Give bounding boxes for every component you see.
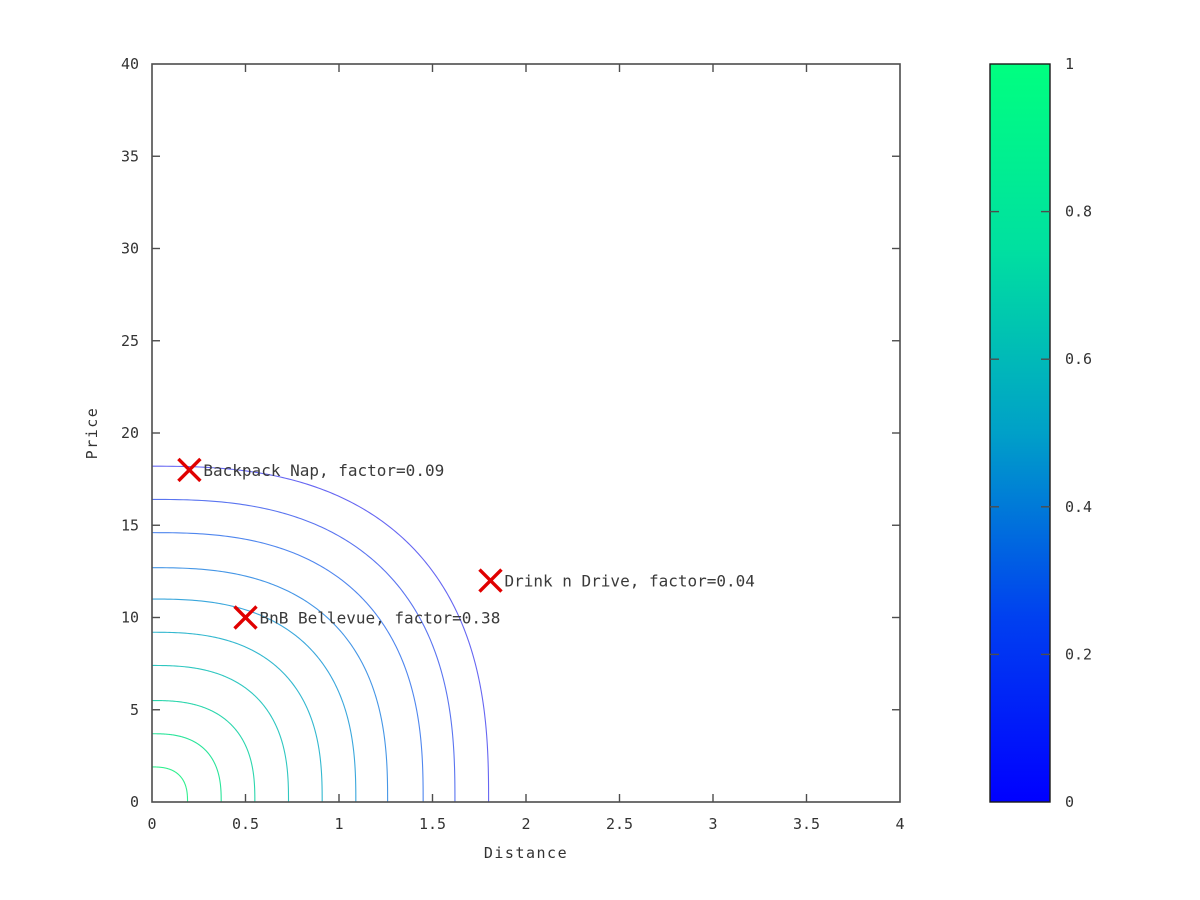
- contour-plot-figure: 00.511.522.533.54 0510152025303540 Dista…: [0, 0, 1200, 900]
- annotation-label: Backpack Nap, factor=0.09: [203, 461, 444, 480]
- y-tick-label: 30: [121, 240, 139, 258]
- y-tick-label: 5: [130, 701, 139, 719]
- colorbar-tick-label: 0.2: [1065, 645, 1092, 663]
- x-tick-label: 1: [334, 815, 343, 833]
- annotation-label: Drink n Drive, factor=0.04: [504, 572, 754, 591]
- colorbar-tick-label: 0: [1065, 793, 1074, 811]
- x-tick-label: 2: [521, 815, 530, 833]
- y-tick-label: 15: [121, 516, 139, 534]
- y-tick-label: 0: [130, 793, 139, 811]
- annotation-marker[interactable]: Drink n Drive, factor=0.04: [479, 570, 754, 592]
- x-tick-label: 0.5: [232, 815, 259, 833]
- x-tick-label: 4: [895, 815, 904, 833]
- x-tick-label: 3.5: [793, 815, 820, 833]
- x-tick-label: 1.5: [419, 815, 446, 833]
- colorbar-tick-label: 1: [1065, 55, 1074, 73]
- x-axis-title: Distance: [484, 844, 568, 862]
- x-tick-label: 2.5: [606, 815, 633, 833]
- y-axis-title: Price: [83, 407, 101, 460]
- colorbar-tick-label: 0.4: [1065, 498, 1092, 516]
- y-tick-label: 25: [121, 332, 139, 350]
- y-tick-label: 35: [121, 147, 139, 165]
- y-tick-label: 20: [121, 424, 139, 442]
- chart-canvas: 00.511.522.533.54 0510152025303540 Dista…: [0, 0, 1200, 900]
- y-tick-label: 40: [121, 55, 139, 73]
- colorbar-tick-label: 0.6: [1065, 350, 1092, 368]
- x-tick-label: 3: [708, 815, 717, 833]
- colorbar-gradient: [990, 64, 1050, 802]
- annotation-marker[interactable]: BnB Bellevue, factor=0.38: [235, 607, 501, 629]
- x-tick-label: 0: [147, 815, 156, 833]
- y-tick-label: 10: [121, 609, 139, 627]
- colorbar-tick-label: 0.8: [1065, 203, 1092, 221]
- annotation-marker[interactable]: Backpack Nap, factor=0.09: [178, 459, 444, 481]
- annotation-label: BnB Bellevue, factor=0.38: [260, 609, 501, 628]
